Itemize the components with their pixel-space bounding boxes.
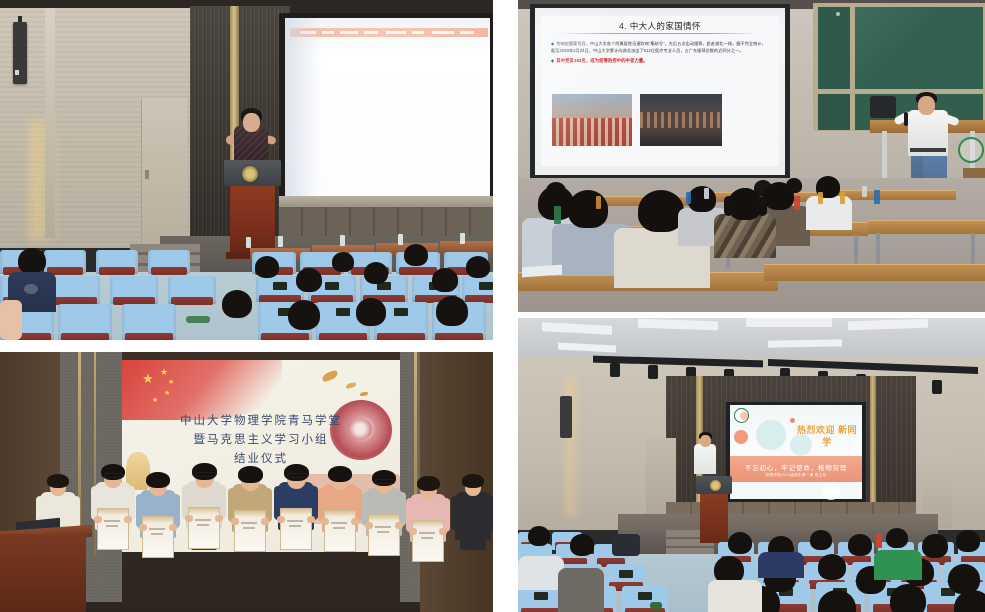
certificate <box>188 507 220 549</box>
wall-speaker-icon <box>560 396 572 438</box>
audience-head <box>956 530 980 552</box>
slide-footer: 物理学院2021级新生第一课 班主任 <box>730 473 862 478</box>
slide-tick <box>322 31 334 34</box>
person-hand <box>277 516 285 523</box>
seat-number-plate <box>336 308 350 316</box>
audience-head <box>886 528 908 548</box>
seat-cushion <box>399 267 437 275</box>
audience-head <box>364 262 388 284</box>
speaker-face <box>243 113 260 132</box>
desk-leg <box>971 233 975 267</box>
seat-cushion <box>261 333 309 340</box>
certificate-text-line <box>104 520 120 522</box>
audience-head <box>222 290 252 318</box>
audience-head <box>848 534 872 556</box>
seat-cushion <box>125 333 173 340</box>
water-bottle <box>340 235 345 246</box>
audience-torso <box>708 580 762 612</box>
person-hand <box>307 516 315 523</box>
audience-head <box>764 182 794 210</box>
audience-torso <box>558 568 604 612</box>
slide-tick <box>460 31 474 34</box>
audience-head <box>568 190 608 228</box>
person-hand <box>215 515 223 522</box>
hair-tie <box>724 196 733 216</box>
podium-base <box>230 185 275 257</box>
backpack-icon <box>612 534 640 556</box>
water-bottle <box>398 234 403 245</box>
certificate-text-line <box>421 537 433 539</box>
certificate-text-line <box>287 520 303 522</box>
person-arm <box>487 496 493 530</box>
audience-head <box>296 268 322 292</box>
audience-torso <box>806 196 852 230</box>
water-bottle <box>794 196 800 210</box>
audience-head <box>288 300 320 330</box>
audience-head <box>688 186 716 212</box>
water-bottle <box>686 192 691 204</box>
audience-torso-camo <box>714 214 776 258</box>
slide-tick <box>412 31 424 34</box>
floor-logo-icon <box>958 137 984 163</box>
panel-bottom-right[interactable]: 热烈欢迎 新同学 不忘初心，牢记使命，格物穷理 物理学院2021级新生第一课 班… <box>518 318 985 612</box>
desk <box>868 220 985 234</box>
certificate <box>324 510 356 552</box>
glasses-icon <box>104 473 124 478</box>
water-bottle <box>704 188 709 199</box>
seat-cushion <box>171 297 213 305</box>
glasses-icon <box>375 479 395 484</box>
audience-head <box>570 534 594 556</box>
slide-circle <box>822 482 840 500</box>
certificate-text-line <box>243 527 255 529</box>
audience-head <box>818 554 846 580</box>
slide-tick <box>432 31 454 34</box>
slide-circle <box>790 418 795 423</box>
photo-collage: 4. 中大人的家国情怀 ◆为响应国家号召，中山大学各个附属医院迅速吹响“集结号”… <box>0 0 985 612</box>
audience-head <box>528 526 550 546</box>
spotlight-icon <box>610 363 620 377</box>
desk <box>764 264 985 281</box>
certificate-text-line <box>195 519 211 521</box>
seat-number-plate <box>325 282 339 290</box>
star-icon: ★ <box>160 368 168 377</box>
person-hand <box>439 528 447 535</box>
person-hair <box>238 466 263 483</box>
banner-line-3: 结业仪式 <box>122 450 400 469</box>
presenter-torso <box>694 444 716 474</box>
certificate-text-line <box>375 526 391 528</box>
slide-tick <box>340 31 358 34</box>
audience-arm <box>0 300 22 340</box>
water-bottle <box>460 233 465 244</box>
slide-tick <box>364 31 378 34</box>
slide-headline: 热烈欢迎 新同学 <box>794 424 860 448</box>
shirt-logo-icon <box>24 284 38 294</box>
panel-top-left[interactable] <box>0 0 493 340</box>
screen-sheen <box>285 18 321 196</box>
slide-subtitle: 不忘初心，牢记使命，格物穷理 <box>730 462 862 472</box>
certificate <box>280 508 312 550</box>
presenter-head <box>700 435 711 447</box>
certificate <box>368 514 400 556</box>
person-hand <box>321 518 329 525</box>
star-icon: ★ <box>164 389 170 398</box>
floor-marker <box>186 316 210 323</box>
seat-cushion <box>521 608 561 612</box>
audience-head <box>436 296 468 326</box>
slide-sheen <box>535 8 785 175</box>
banner-line-2: 暨马克思主义学习小组 <box>122 431 400 450</box>
certificate <box>97 508 129 550</box>
door-handle-icon <box>145 170 149 179</box>
certificate-text-line <box>419 532 435 534</box>
slide-circle <box>734 430 748 444</box>
certificate-text-line <box>151 533 163 535</box>
star-icon: ★ <box>168 378 174 387</box>
floor-marker <box>650 602 662 609</box>
person-hand <box>409 528 417 535</box>
audience-head <box>432 268 458 292</box>
spotlight-icon <box>648 365 658 379</box>
water-bottle <box>246 237 251 248</box>
audience-head <box>728 532 752 554</box>
desk-leg <box>876 233 880 267</box>
ceiling-light <box>746 318 832 327</box>
person-hand <box>261 518 269 525</box>
slide-tick <box>386 31 406 34</box>
certificate-text-line <box>289 525 301 527</box>
banner-line-1: 中山大学物理学院青马学堂 <box>122 412 400 431</box>
podium-body <box>0 534 86 612</box>
panel-top-right[interactable]: 4. 中大人的家国情怀 ◆为响应国家号召，中山大学各个附属医院迅速吹响“集结号”… <box>518 0 985 312</box>
water-bottle <box>818 192 823 204</box>
person-hair <box>47 474 69 488</box>
panel-bottom-left[interactable]: ★ ★ ★ ★ ★ ★ 中山大学物理学院青马学堂 暨马克思主义学习小组 结业仪式 <box>0 352 493 612</box>
certificate-text-line <box>241 522 257 524</box>
person-hand <box>124 516 132 523</box>
water-bottle <box>862 186 867 197</box>
audience-head <box>18 248 46 274</box>
audience-torso <box>758 552 804 578</box>
star-icon: ★ <box>152 396 158 405</box>
person-hand <box>139 524 147 531</box>
certificate-text-line <box>106 525 118 527</box>
seat-number-plate <box>479 282 493 290</box>
chalkboard-glare <box>855 7 983 89</box>
audience-head <box>255 256 279 278</box>
water-bottle <box>278 236 283 247</box>
certificate <box>412 520 444 562</box>
audience-torso <box>874 550 922 580</box>
person-arm <box>451 496 459 530</box>
certificate <box>234 510 266 552</box>
certificate <box>142 516 174 558</box>
water-bottle <box>840 192 845 204</box>
desk-far <box>836 190 956 200</box>
seat-cushion <box>435 333 483 340</box>
water-bottle <box>554 206 561 224</box>
glasses-icon <box>287 473 308 478</box>
audience-head <box>356 298 386 326</box>
university-emblem-icon <box>710 480 721 491</box>
audience-head <box>810 530 832 550</box>
presenter-belt <box>910 148 946 152</box>
person-hair <box>146 472 170 488</box>
seat-cushion <box>319 333 367 340</box>
seat-number-plate <box>638 592 652 600</box>
ceiling-light <box>768 339 842 347</box>
seat-cushion <box>61 333 109 340</box>
hair-tie <box>758 196 767 216</box>
person-hair <box>328 466 352 482</box>
water-bottle <box>874 190 880 204</box>
person-hand <box>351 518 359 525</box>
water-bottle <box>876 534 882 548</box>
university-emblem-icon <box>242 166 258 182</box>
water-bottle <box>596 196 601 209</box>
person-torso <box>455 492 491 540</box>
seat-number-plate <box>619 570 633 578</box>
seat-number-plate <box>534 592 548 600</box>
audience-head <box>890 584 926 612</box>
chalkboard-panel <box>818 7 850 89</box>
speaker-led-icon <box>15 70 19 75</box>
audience-head <box>404 244 428 266</box>
audience-head <box>728 188 762 220</box>
person-hair <box>462 474 484 488</box>
teacher-chair <box>870 96 896 118</box>
person-hair <box>417 476 440 491</box>
person-hand <box>395 522 403 529</box>
certificate-text-line <box>333 527 345 529</box>
seat-cushion <box>151 267 187 275</box>
spotlight-icon <box>932 380 942 394</box>
person-hand <box>94 516 102 523</box>
chalkboard-panel <box>818 94 850 130</box>
certificate-text-line <box>197 524 209 526</box>
person-hand <box>365 522 373 529</box>
star-icon: ★ <box>142 374 154 383</box>
certificate-text-line <box>331 522 347 524</box>
glasses-icon <box>195 472 216 477</box>
wall-light-strip <box>45 8 55 238</box>
university-logo-icon <box>734 408 749 423</box>
chalkboard-dot-icon <box>836 12 840 16</box>
audience-head <box>922 534 948 558</box>
podium-base <box>700 493 728 543</box>
seat-cushion <box>99 267 135 275</box>
banner-text: 中山大学物理学院青马学堂 暨马克思主义学习小组 结业仪式 <box>122 412 400 469</box>
slide-circle <box>756 420 786 450</box>
seat-number-plate <box>394 308 408 316</box>
certificate-text-line <box>377 531 389 533</box>
audience-head <box>332 252 354 272</box>
seat-cushion <box>377 333 425 340</box>
presenter-head <box>918 96 935 115</box>
person-hand <box>185 515 193 522</box>
audience-head <box>466 256 490 278</box>
seat-number-plate <box>273 282 287 290</box>
certificate-text-line <box>149 528 165 530</box>
person-hand <box>231 518 239 525</box>
person-hand <box>169 524 177 531</box>
